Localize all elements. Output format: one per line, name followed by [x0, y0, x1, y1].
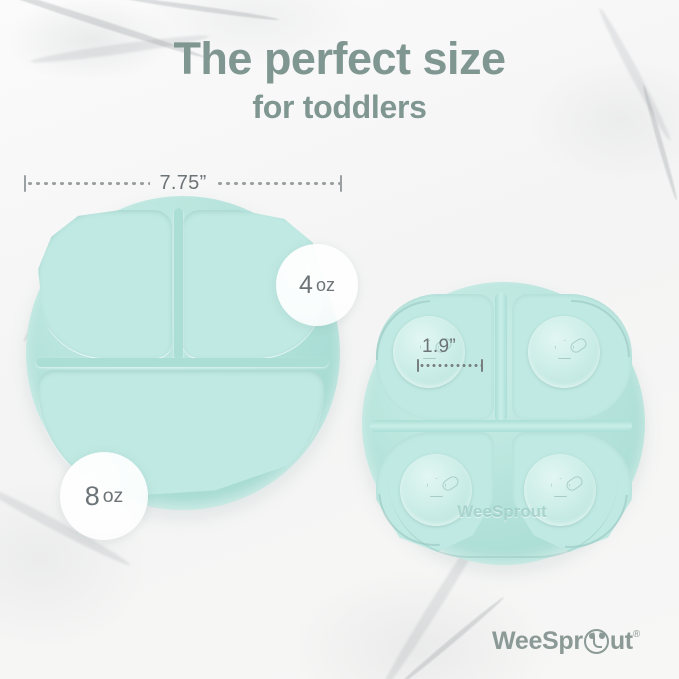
capacity-value: 8: [85, 481, 100, 512]
plate-width-label: 7.75”: [150, 172, 215, 195]
suction-cup-top-right: [528, 316, 600, 388]
dimension-cap-right: [481, 359, 483, 372]
product-infographic: The perfect size for toddlers 7.75”: [0, 0, 679, 679]
brand-name-part1: WeeSpr: [492, 627, 583, 656]
capacity-badge-8oz: 8 oz: [60, 452, 148, 540]
plate-back-body: WeeSprout: [362, 282, 645, 565]
back-rib-vertical: [495, 292, 507, 422]
capacity-unit: oz: [316, 275, 335, 296]
dimension-dots: [419, 364, 481, 367]
brand-name-part2: ut: [610, 627, 633, 656]
compartment-top-left: [38, 210, 172, 358]
sprout-icon: [584, 629, 609, 654]
capacity-value: 4: [299, 271, 313, 300]
back-rib-horizontal: [370, 420, 632, 432]
capacity-badge-4oz: 4 oz: [276, 244, 358, 326]
capacity-unit: oz: [103, 485, 124, 508]
headline-primary: The perfect size: [0, 34, 679, 84]
dimension-dots-left: [26, 182, 150, 185]
suction-cup-width-label: 1.9”: [422, 336, 456, 358]
headline-block: The perfect size for toddlers: [0, 34, 679, 126]
dimension-dots-right: [216, 182, 340, 185]
suction-cup-width-dimension: [417, 358, 483, 372]
divided-plate-back: WeeSprout: [362, 282, 645, 565]
plate-width-dimension: 7.75”: [24, 172, 342, 194]
headline-secondary: for toddlers: [0, 88, 679, 126]
registered-trademark-symbol: ®: [633, 629, 640, 640]
divider-vertical: [174, 208, 183, 360]
dimension-cap-right: [340, 175, 342, 192]
divider-horizontal: [36, 358, 328, 367]
embossed-brand-mark: WeeSprout: [446, 504, 558, 536]
brand-logo: WeeSpr ut ®: [492, 627, 640, 656]
